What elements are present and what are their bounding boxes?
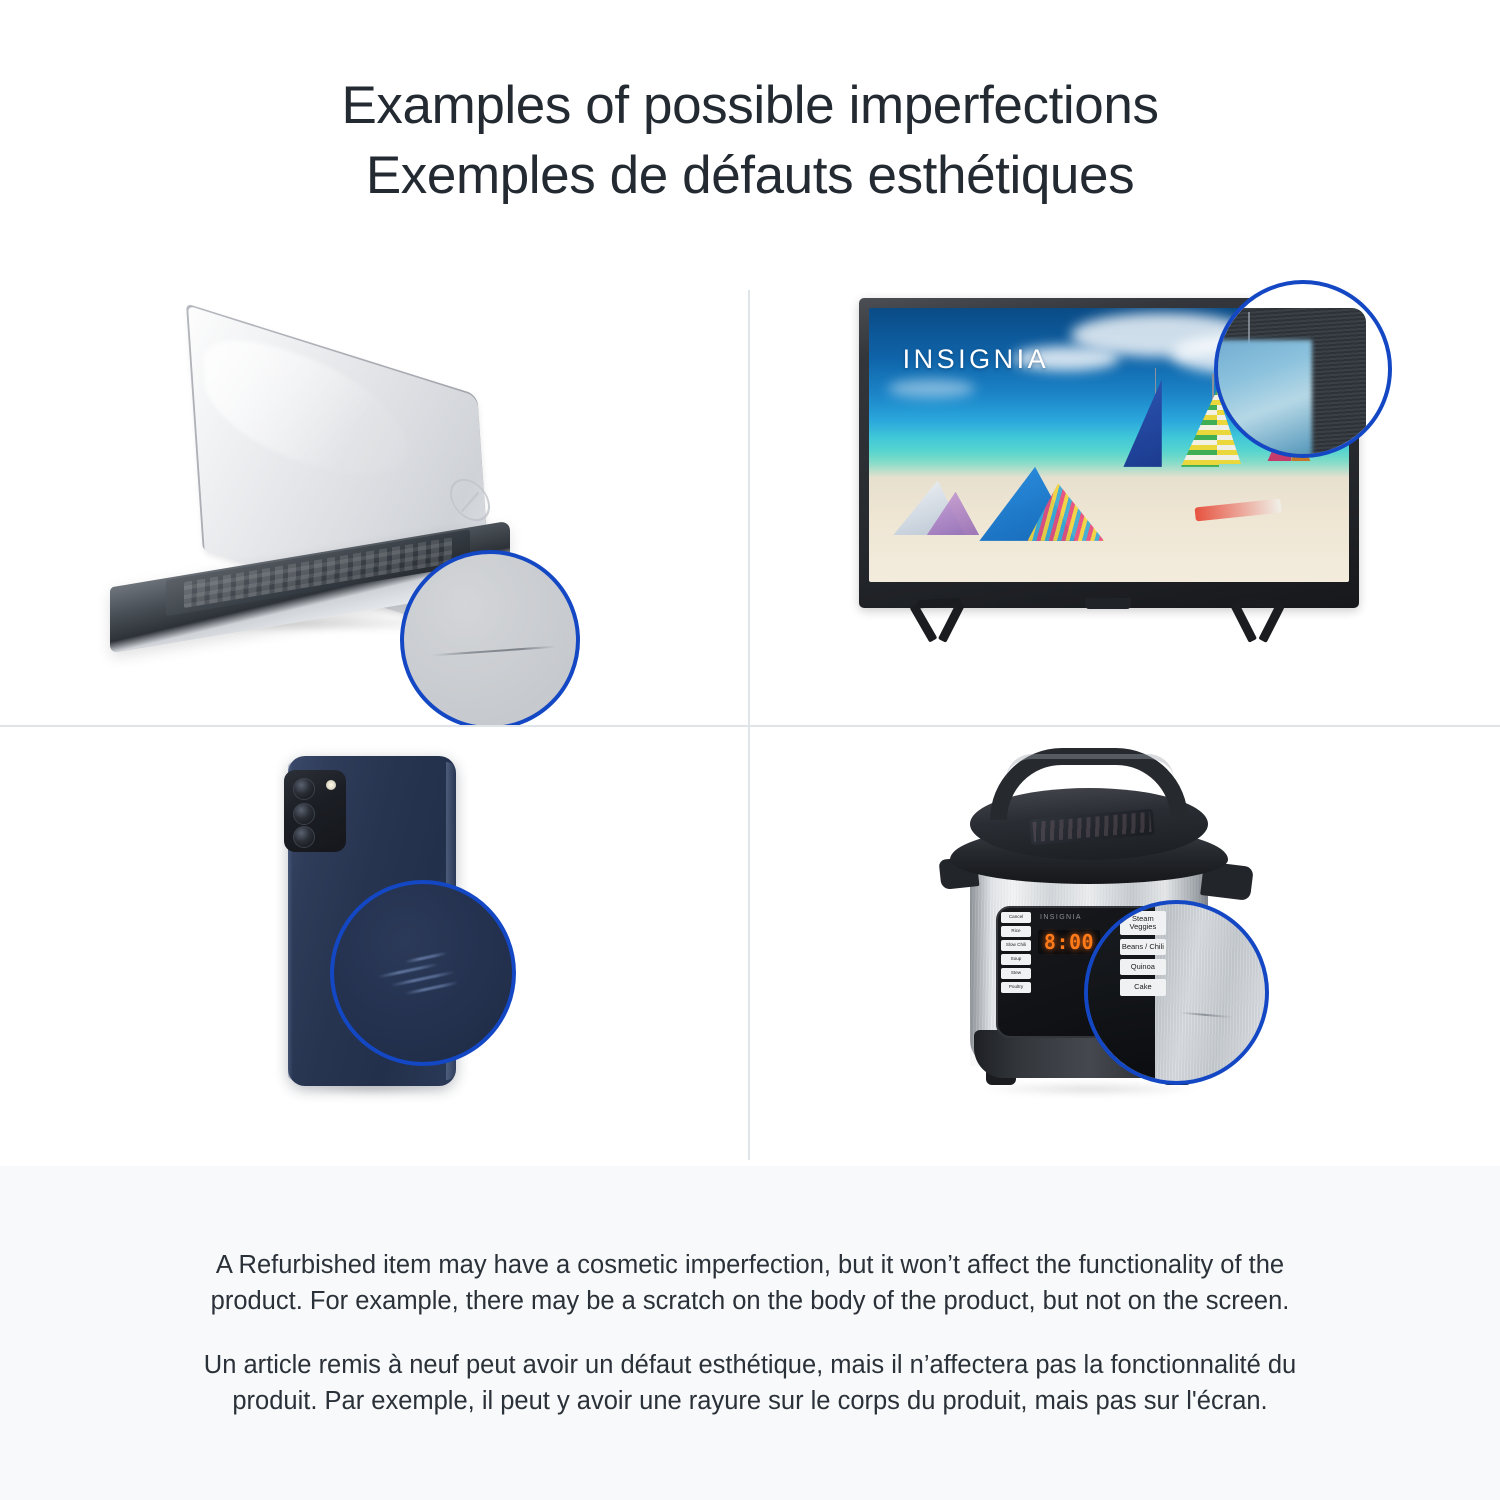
cooker-brand-label: INSIGNIA	[1040, 914, 1082, 921]
cooker-button[interactable]: Stew	[1001, 968, 1031, 979]
tv-stand-left	[913, 601, 985, 645]
magnified-cooker-button: Steam Veggies	[1120, 911, 1166, 935]
magnifier-laptop-scratch	[400, 550, 580, 725]
refurbished-imperfections-infographic: Examples of possible imperfections Exemp…	[0, 0, 1500, 1500]
tv-stand-right	[1233, 601, 1305, 645]
phone-illustration	[268, 756, 568, 1136]
tv-center-nub	[1085, 598, 1131, 609]
disclaimer-text-en: A Refurbished item may have a cosmetic i…	[185, 1247, 1315, 1319]
cooker-button[interactable]: Poultry	[1001, 982, 1031, 993]
camera-lens-1	[293, 778, 315, 800]
magnifier-phone-scratches	[330, 880, 516, 1066]
camera-flash-icon	[326, 780, 336, 790]
camera-lens-2	[293, 803, 315, 825]
cooker-button[interactable]: Soup	[1001, 954, 1031, 965]
magnified-tv-panel	[1214, 340, 1312, 458]
cooker-lid-handle-sheen	[1006, 754, 1174, 780]
page-title-en: Examples of possible imperfections	[341, 71, 1158, 141]
footer-disclaimer: A Refurbished item may have a cosmetic i…	[0, 1166, 1500, 1500]
cell-smartphone	[0, 726, 748, 1165]
laptop-scratch-mark	[432, 646, 556, 657]
phone-scratch-3	[405, 981, 460, 995]
tv-leg-b	[910, 603, 938, 642]
magnified-cooker-button: Cake	[1120, 979, 1166, 995]
product-examples-grid: INSIGNIA	[0, 268, 1500, 1165]
magnified-cooker-button: Quinoa	[1120, 959, 1166, 975]
sail-striped-1	[1181, 385, 1219, 467]
magnifier-cooker-scratch: Steam Veggies Beans / Chili Quinoa Cake	[1084, 900, 1269, 1085]
laptop-illustration	[110, 368, 530, 668]
cooker-buttons-left[interactable]: Cancel Rice Slow Chili Soup Stew Poultry	[1001, 912, 1031, 993]
magnified-cooker-buttons: Steam Veggies Beans / Chili Quinoa Cake	[1120, 911, 1166, 995]
tv-screen-brand: INSIGNIA	[903, 344, 1050, 375]
camera-lens-3	[293, 826, 315, 848]
cell-laptop	[0, 268, 748, 725]
laptop-lid-sheen	[201, 324, 411, 496]
cooker-button[interactable]: Slow Chili	[1001, 940, 1031, 951]
cloud-5	[888, 379, 974, 398]
phone-scratch-4	[405, 952, 447, 964]
magnified-cooker-button: Beans / Chili	[1120, 939, 1166, 955]
cooker-button[interactable]: Rice	[1001, 926, 1031, 937]
disclaimer-text-fr: Un article remis à neuf peut avoir un dé…	[185, 1347, 1315, 1419]
tv-leg-c	[1258, 603, 1284, 643]
cooker-illustration: INSIGNIA 8:00 Cancel Rice Slow Chili Sou…	[934, 740, 1314, 1140]
magnified-tv-corner	[1214, 308, 1392, 458]
page-title-fr: Exemples de défauts esthétiques	[366, 141, 1134, 211]
sail-blue-large	[1123, 379, 1161, 467]
tv-illustration: INSIGNIA	[859, 298, 1359, 668]
magnifier-tv-bezel-scuff	[1214, 280, 1392, 458]
phone-camera-module	[284, 770, 346, 852]
phone-scratch-group	[377, 955, 472, 1012]
tv-leg-d	[1230, 601, 1257, 643]
cooker-button[interactable]: Cancel	[1001, 912, 1031, 923]
tv-leg-a	[938, 601, 965, 643]
cell-television: INSIGNIA	[749, 268, 1500, 725]
beach-hull	[1195, 498, 1282, 521]
page-header: Examples of possible imperfections Exemp…	[0, 0, 1500, 268]
cell-pressure-cooker: INSIGNIA 8:00 Cancel Rice Slow Chili Sou…	[749, 726, 1500, 1165]
tv-leg-bar2	[1237, 597, 1281, 608]
